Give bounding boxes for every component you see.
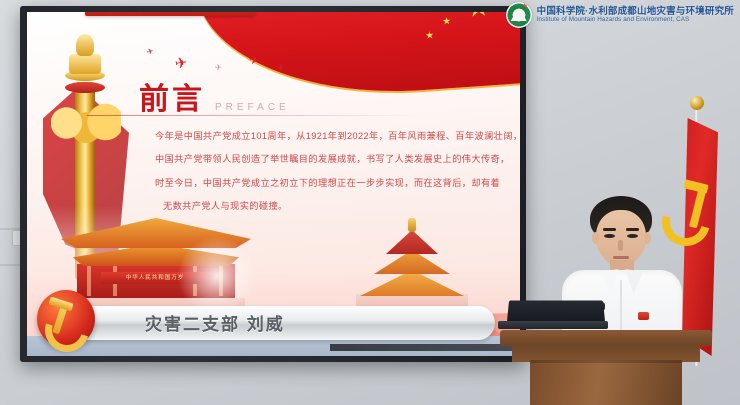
- flag-star-icon: ★: [442, 17, 452, 28]
- slide-paragraph: 今年是中国共产党成立101周年，从1921年到2022年，百年风雨兼程、百年波澜…: [155, 130, 491, 142]
- flying-birds-icon: ✈: [174, 55, 189, 72]
- podium-edge: [530, 360, 682, 363]
- laptop-screen: [507, 301, 605, 322]
- temple-finial: [408, 218, 416, 232]
- presenter-ear: [592, 232, 599, 244]
- speaker-name: 灾害二支部 刘威: [145, 310, 285, 335]
- podium-body: [530, 360, 682, 405]
- presentation-display[interactable]: ★ ★ ★ ★ ★ ✈ ✈ ✈ ✈ ✈: [20, 6, 526, 362]
- column-cap: [69, 54, 101, 74]
- screenshot-root: ★ ★ ★ ★ ★ ✈ ✈ ✈ ✈ ✈: [0, 0, 740, 405]
- mountain-glyph: [511, 10, 527, 21]
- flying-birds-icon: ✈: [248, 53, 260, 67]
- presenter-nose: [618, 240, 623, 251]
- column-ring: [65, 82, 105, 93]
- laptop-base: [498, 321, 608, 329]
- wooden-podium-icon: [500, 330, 712, 405]
- flying-birds-icon: ✈: [215, 64, 222, 72]
- flag-star-icon: ★: [425, 31, 435, 42]
- cloud-board-icon: [51, 100, 121, 146]
- status-badge: 中共党员: [85, 12, 255, 16]
- slide-title-cn: 前言: [139, 74, 205, 118]
- slide-canvas: ★ ★ ★ ★ ★ ✈ ✈ ✈ ✈ ✈: [27, 12, 520, 356]
- flag-star-icon: ★: [465, 12, 491, 22]
- badge-label: 中共党员: [99, 12, 143, 14]
- temple-roof-top: [386, 230, 438, 254]
- star-glyph-icon: ★: [522, 3, 528, 10]
- laptop-icon[interactable]: [498, 300, 608, 334]
- presenter-ear: [644, 232, 651, 244]
- stone-lion-icon: [76, 34, 94, 56]
- party-lapel-pin-icon: [638, 312, 649, 320]
- presenter-eyebrow: [603, 228, 616, 231]
- slide-heading: 前言 PREFACE: [139, 74, 290, 118]
- slide-paragraph: 时至今日，中国共产党成立之初立下的理想正在一步步实现，而在这背后，却有着: [155, 177, 491, 189]
- flying-birds-icon: ✈: [146, 47, 155, 57]
- heading-divider: [87, 115, 417, 116]
- institute-watermark: ★ 中国科学院·水利部成都山地灾害与环境研究所 Institute of Mou…: [506, 2, 734, 28]
- gate-column: [87, 266, 91, 296]
- institute-name-en: Institute of Mountain Hazards and Enviro…: [537, 17, 734, 24]
- presenter-eye: [627, 234, 638, 238]
- party-emblem-icon: [37, 290, 95, 348]
- display-stand-band: [330, 344, 512, 351]
- flying-birds-icon: ✈: [277, 64, 285, 74]
- speaker-name-bar: 灾害二支部 刘威: [45, 306, 495, 340]
- institute-logo-icon: ★: [506, 2, 532, 28]
- institute-name-block: 中国科学院·水利部成都山地灾害与环境研究所 Institute of Mount…: [537, 7, 734, 24]
- presenter-mouth: [613, 256, 629, 259]
- presenter-eyebrow: [626, 228, 639, 231]
- flag-pole-finial: [690, 96, 704, 110]
- presenter-eye: [604, 234, 615, 238]
- slide-paragraph: 中国共产党带领人民创造了举世瞩目的发展成就，书写了人类发展史上的伟大传奇，: [155, 153, 491, 165]
- sun-glow: [177, 236, 257, 316]
